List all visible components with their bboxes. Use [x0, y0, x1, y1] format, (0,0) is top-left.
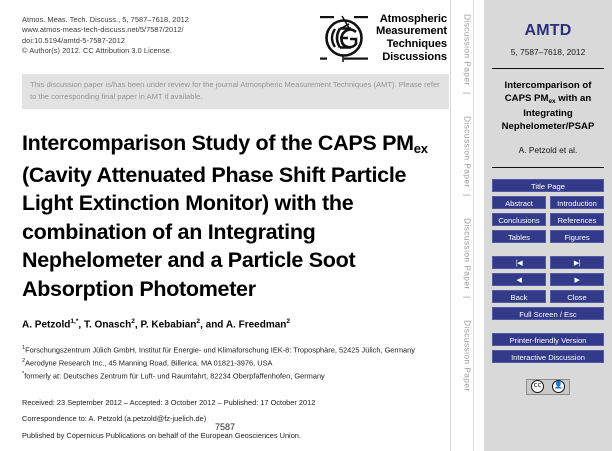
back-button[interactable]: Back [492, 290, 546, 303]
page-title: Intercomparison Study of the CAPS PMex (… [22, 129, 446, 303]
affiliation-text: Forschungszentrum Jülich GmbH, Institut … [25, 346, 415, 355]
title-page-button[interactable]: Title Page [492, 179, 604, 192]
journal-ref-line-3: doi:10.5194/amtd-5-7587-2012 [22, 36, 189, 46]
spacer [492, 324, 604, 333]
figures-button[interactable]: Figures [550, 230, 604, 243]
rail-label: Discussion Paper [463, 110, 473, 194]
author-name: , P. Kebabian [135, 319, 197, 330]
cc-by-license-icon[interactable]: cc 👤 [526, 379, 570, 395]
running-title: Intercomparison of CAPS PMex with an Int… [490, 79, 606, 134]
running-title-line-3: Integrating [490, 107, 606, 120]
author-name: A. Petzold [22, 319, 70, 330]
conclusions-references-row: Conclusions References [492, 213, 604, 226]
prev-next-page-row: ◀ ▶ [492, 273, 604, 286]
affiliation-item: 2Aerodyne Research Inc., 45 Manning Road… [22, 356, 452, 369]
close-button[interactable]: Close [550, 290, 604, 303]
attribution-icon: 👤 [552, 380, 565, 393]
author-name: , and A. Freedman [200, 319, 286, 330]
first-page-icon-button[interactable]: |◀ [492, 256, 546, 269]
discussion-paper-rail: Discussion Paper | Discussion Paper | Di… [450, 0, 484, 451]
journal-reference-block: Atmos. Meas. Tech. Discuss., 5, 7587–761… [22, 14, 189, 57]
journal-name-line-4: Discussions [376, 51, 447, 64]
author-affiliation-marker: 2 [286, 318, 290, 325]
journal-branding: Atmospheric Measurement Techniques Discu… [318, 12, 450, 64]
affiliation-item: 1Forschungszentrum Jülich GmbH, Institut… [22, 343, 452, 356]
divider-bottom [492, 167, 604, 168]
title-subscript: ex [414, 141, 428, 156]
spacer [492, 247, 604, 256]
journal-ref-line-1: Atmos. Meas. Tech. Discuss., 5, 7587–761… [22, 15, 189, 25]
journal-name-line-2: Measurement [376, 25, 447, 38]
title-part-1: Intercomparison Study of the CAPS PM [22, 131, 414, 155]
affiliation-text: formerly at: Deutsches Zentrum für Luft-… [24, 372, 325, 381]
affiliation-list: 1Forschungszentrum Jülich GmbH, Institut… [22, 343, 452, 382]
running-title-line-4: Nephelometer/PSAP [490, 120, 606, 133]
tables-button[interactable]: Tables [492, 230, 546, 243]
running-title-line-2-post: with an [556, 93, 592, 104]
conclusions-button[interactable]: Conclusions [492, 213, 546, 226]
references-button[interactable]: References [550, 213, 604, 226]
running-title-subscript: ex [548, 98, 555, 105]
issue-reference: 5, 7587–7618, 2012 [511, 47, 586, 57]
egu-logo [318, 12, 370, 64]
running-authors: A. Petzold et al. [519, 145, 578, 155]
paper-title-page: Atmos. Meas. Tech. Discuss., 5, 7587–761… [0, 0, 612, 451]
prev-page-icon-button[interactable]: ◀ [492, 273, 546, 286]
masthead: Atmos. Meas. Tech. Discuss., 5, 7587–761… [22, 14, 450, 64]
publication-dates: Received: 23 September 2012 – Accepted: … [22, 395, 450, 412]
rail-separator: | [463, 194, 473, 212]
running-title-line-2: CAPS PMex with an [490, 92, 606, 106]
next-page-icon-button[interactable]: ▶ [550, 273, 604, 286]
creative-commons-icon: cc [531, 380, 544, 393]
publication-metadata: Received: 23 September 2012 – Accepted: … [22, 395, 450, 445]
introduction-button[interactable]: Introduction [550, 196, 604, 209]
rail-label: Discussion Paper [463, 8, 473, 92]
paper-body: Atmos. Meas. Tech. Discuss., 5, 7587–761… [0, 0, 450, 451]
rail-label: Discussion Paper [463, 212, 473, 296]
author-name: , T. Onasch [78, 319, 131, 330]
interactive-discussion-button[interactable]: Interactive Discussion [492, 350, 604, 363]
journal-ref-line-4: © Author(s) 2012. CC Attribution 3.0 Lic… [22, 46, 189, 56]
running-title-line-1: Intercomparison of [490, 79, 606, 92]
rail-label: Discussion Paper [463, 314, 473, 398]
back-close-row: Back Close [492, 290, 604, 303]
journal-name-line-1: Atmospheric [376, 13, 447, 26]
running-title-line-2-pre: CAPS PM [505, 93, 549, 104]
rail-separator: | [463, 296, 473, 314]
author-list: A. Petzold1,*, T. Onasch2, P. Kebabian2,… [22, 318, 450, 330]
rail-separator: | [463, 92, 473, 110]
affiliation-item: *formerly at: Deutsches Zentrum für Luft… [22, 369, 452, 382]
printer-friendly-button[interactable]: Printer-friendly Version [492, 333, 604, 346]
rail-labels: Discussion Paper | Discussion Paper | Di… [451, 0, 484, 451]
last-page-icon-button[interactable]: ▶| [550, 256, 604, 269]
abstract-button[interactable]: Abstract [492, 196, 546, 209]
journal-name-line-3: Techniques [376, 38, 447, 51]
journal-name: Atmospheric Measurement Techniques Discu… [376, 13, 447, 63]
divider-top [492, 68, 604, 69]
tables-figures-row: Tables Figures [492, 230, 604, 243]
navigation-buttons: Title Page Abstract Introduction Conclus… [492, 179, 604, 367]
page-number: 7587 [0, 422, 450, 432]
abstract-introduction-row: Abstract Introduction [492, 196, 604, 209]
navigation-panel: AMTD 5, 7587–7618, 2012 Intercomparison … [484, 0, 612, 451]
affiliation-text: Aerodyne Research Inc., 45 Manning Road,… [25, 359, 272, 368]
title-part-2: (Cavity Attenuated Phase Shift Particle … [22, 163, 406, 301]
journal-ref-line-2: www.atmos-meas-tech-discuss.net/5/7587/2… [22, 25, 189, 35]
first-last-page-row: |◀ ▶| [492, 256, 604, 269]
full-screen-button[interactable]: Full Screen / Esc [492, 307, 604, 320]
review-status-note: This discussion paper is/has been under … [22, 74, 449, 109]
journal-abbreviation: AMTD [524, 22, 571, 40]
